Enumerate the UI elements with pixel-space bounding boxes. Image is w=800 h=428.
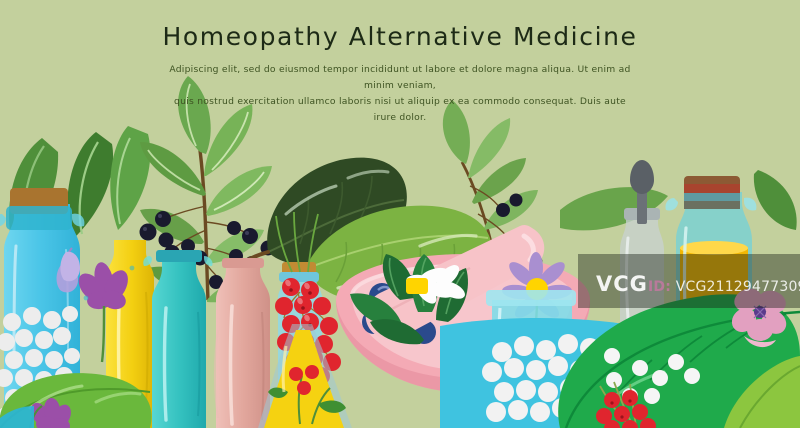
watermark-id: ID: VCG211294773094 <box>648 279 800 295</box>
watermark-id-label: ID: <box>648 279 671 295</box>
herbal-illustration <box>0 0 800 428</box>
watermark-logo: VCG <box>596 272 648 296</box>
pink-vase <box>215 258 270 428</box>
banner-canvas: Homeopathy Alternative Medicine Adipisci… <box>0 0 800 428</box>
watermark-id-value: VCG211294773094 <box>676 279 800 295</box>
